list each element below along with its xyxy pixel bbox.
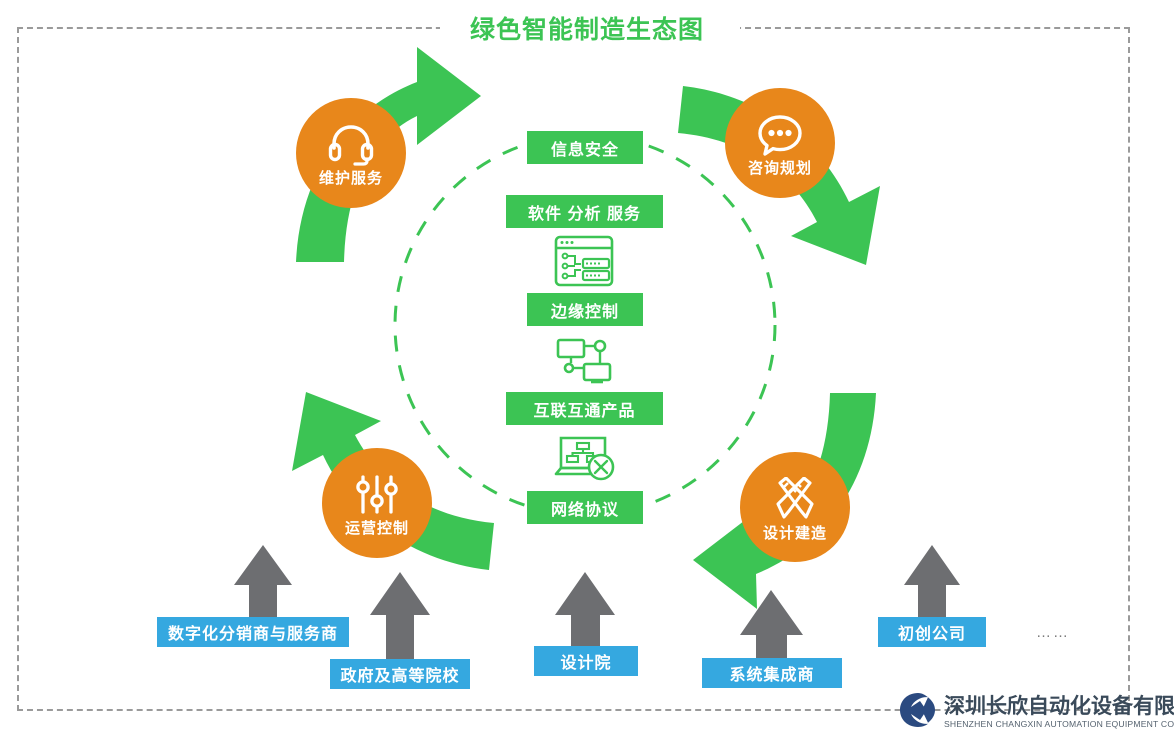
partner-label-system-integrator[interactable]: 系统集成商: [702, 658, 842, 688]
cycle-node-operations[interactable]: 运营控制: [322, 448, 432, 558]
cycle-node-operations-label: 运营控制: [345, 521, 409, 538]
server-circuit-icon: [553, 234, 615, 293]
core-chip-information-security[interactable]: 信息安全: [527, 131, 643, 164]
cycle-node-design-label: 设计建造: [763, 526, 827, 543]
network-topology-icon: [555, 336, 613, 389]
sliders-icon: [354, 474, 400, 521]
partner-label-startups[interactable]: 初创公司: [878, 617, 986, 647]
ruler-pencil-icon: [772, 477, 818, 526]
company-logo: 深圳长欣自动化设备有限公司 SHENZHEN CHANGXIN AUTOMATI…: [898, 691, 1174, 734]
core-chip-edge-control[interactable]: 边缘控制: [527, 293, 643, 326]
gray-arrow-2: [370, 572, 430, 672]
cycle-node-maintenance[interactable]: 维护服务: [296, 98, 406, 208]
partner-label-government-universities[interactable]: 政府及高等院校: [330, 659, 470, 689]
headset-icon: [328, 124, 374, 171]
partners-ellipsis: ……: [1036, 624, 1070, 641]
logo-name-en: SHENZHEN CHANGXIN AUTOMATION EQUIPMENT C…: [944, 720, 1174, 729]
core-chip-network-protocol[interactable]: 网络协议: [527, 491, 643, 524]
page-title: 绿色智能制造生态图: [0, 10, 1174, 46]
cycle-node-maintenance-label: 维护服务: [319, 171, 383, 188]
logo-name-cn: 深圳长欣自动化设备有限公司: [944, 696, 1174, 717]
partner-label-design-institute[interactable]: 设计院: [534, 646, 638, 676]
gray-arrow-5: [904, 545, 960, 620]
changxin-logo-icon: [898, 691, 938, 734]
cycle-node-consulting-label: 咨询规划: [748, 161, 812, 178]
laptop-protocol-icon: [553, 434, 617, 491]
chat-bubble-icon: [757, 114, 803, 161]
core-chip-software-analysis-service[interactable]: 软件 分析 服务: [506, 195, 663, 228]
cycle-node-consulting[interactable]: 咨询规划: [725, 88, 835, 198]
core-chip-interconnect-products[interactable]: 互联互通产品: [506, 392, 663, 425]
cycle-node-design[interactable]: 设计建造: [740, 452, 850, 562]
diagram-canvas: 绿色智能制造生态图: [0, 0, 1174, 732]
gray-arrow-3: [555, 572, 615, 648]
partner-label-digital-distributors[interactable]: 数字化分销商与服务商: [157, 617, 349, 647]
